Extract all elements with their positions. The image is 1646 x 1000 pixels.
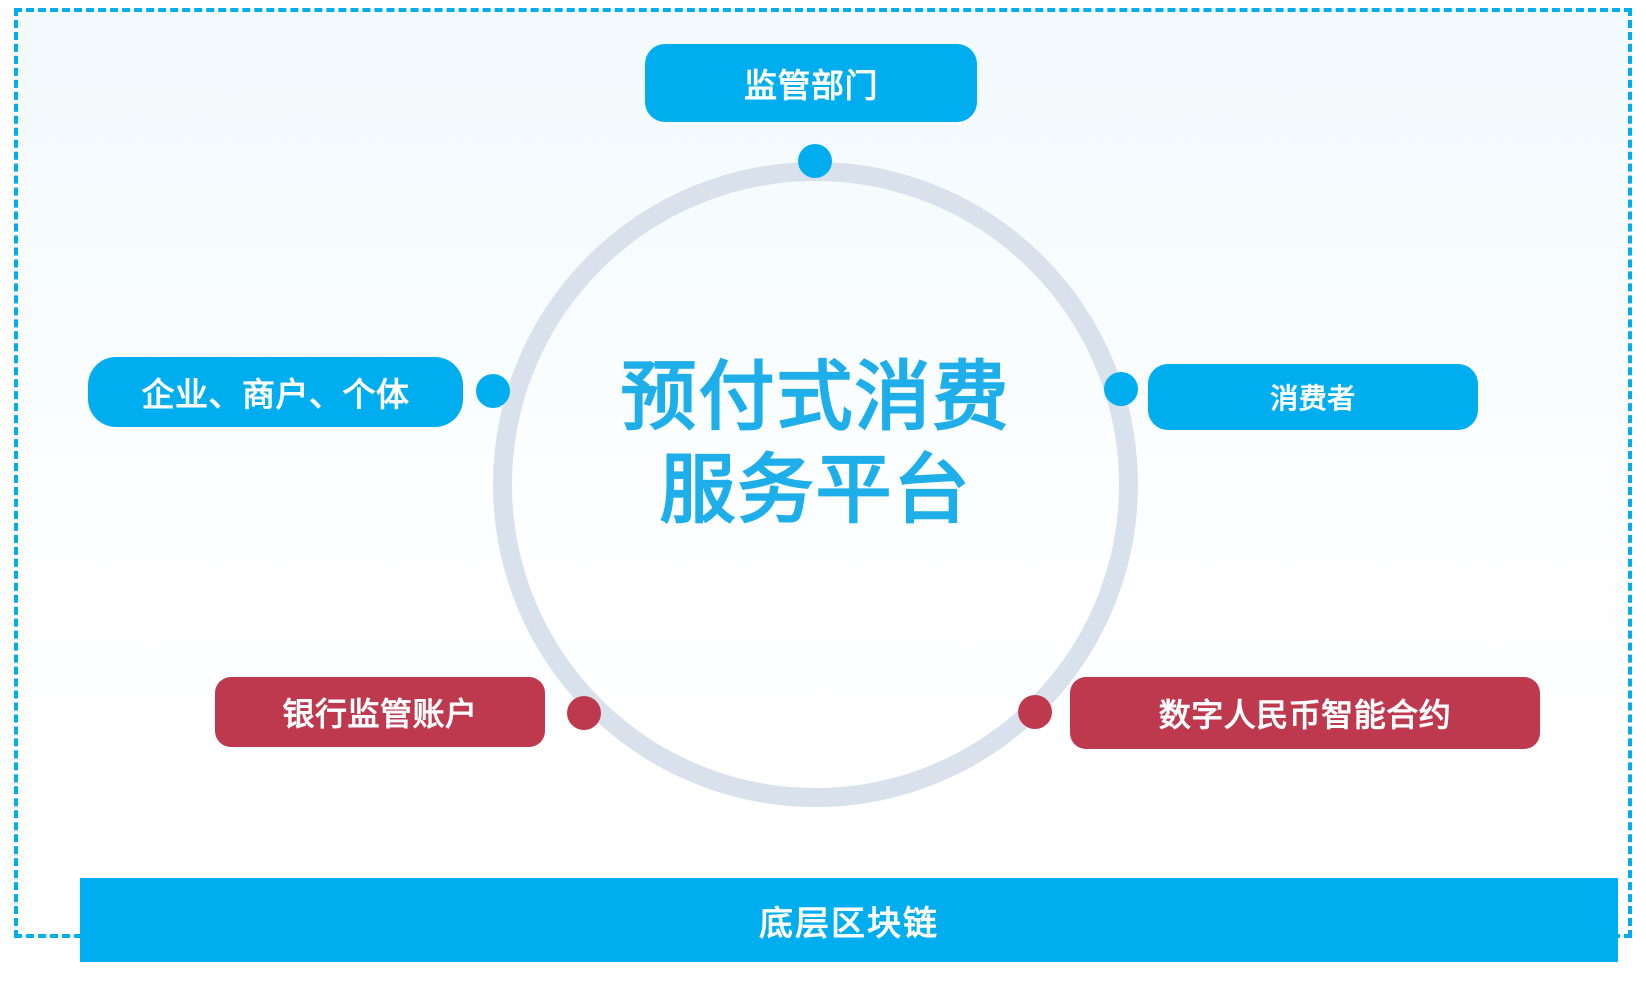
node-dot-bank-account	[567, 696, 601, 730]
platform-title: 预付式消费 服务平台	[548, 352, 1083, 537]
diagram-frame: 监管部门 企业、商户、个体 消费者 银行监管账户 数字人民币智能合约 预付式消费…	[14, 8, 1632, 938]
platform-title-line-1: 预付式消费	[548, 352, 1083, 445]
platform-title-line-2: 服务平台	[548, 445, 1083, 538]
node-dot-enterprise	[476, 374, 510, 408]
node-dot-smart-contract	[1018, 695, 1052, 729]
node-label-smart-contract[interactable]: 数字人民币智能合约	[1070, 677, 1540, 749]
blockchain-foundation-bar[interactable]: 底层区块链	[80, 878, 1618, 962]
node-dot-regulator	[798, 144, 832, 178]
node-dot-consumer	[1104, 372, 1138, 406]
diagram-canvas: 监管部门 企业、商户、个体 消费者 银行监管账户 数字人民币智能合约 预付式消费…	[0, 0, 1646, 1000]
blockchain-foundation-label: 底层区块链	[759, 896, 939, 945]
node-label-regulator[interactable]: 监管部门	[645, 44, 977, 122]
node-label-consumer[interactable]: 消费者	[1148, 364, 1478, 430]
node-label-bank-account[interactable]: 银行监管账户	[215, 677, 545, 747]
node-label-enterprise[interactable]: 企业、商户、个体	[88, 357, 463, 427]
